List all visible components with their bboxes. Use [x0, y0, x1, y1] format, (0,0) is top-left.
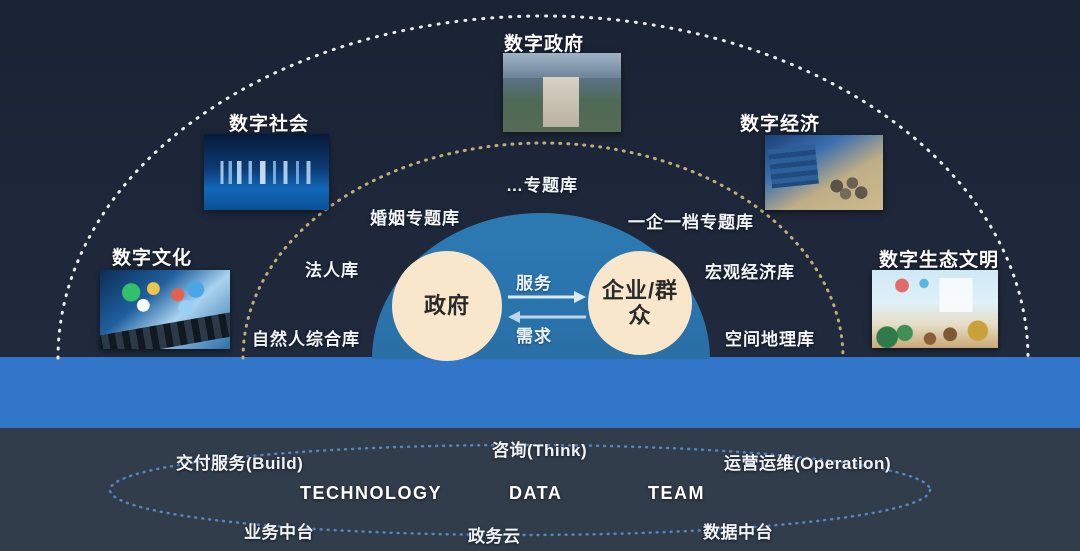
node-enterprise-public[interactable]: 企业/群众: [588, 251, 692, 355]
inner-label-more-topics: …专题库: [506, 171, 578, 196]
bottom-label-build: 交付服务(Build): [176, 449, 303, 474]
bottom-label-operation: 运营运维(Operation): [724, 449, 891, 474]
inner-label-spatial-geography: 空间地理库: [725, 325, 815, 350]
bottom-label-business-midend: 业务中台: [244, 518, 314, 543]
blue-divider-band: [0, 357, 1080, 428]
thumb-digital-society[interactable]: [204, 134, 329, 210]
inner-label-macro-economy: 宏观经济库: [705, 258, 795, 283]
digital-government-image: [503, 53, 621, 132]
node-government[interactable]: 政府: [392, 251, 502, 361]
outer-label-digital-government: 数字政府: [504, 29, 584, 56]
thumb-digital-government[interactable]: [503, 53, 621, 132]
arrow-service-right-icon: [508, 290, 586, 309]
thumb-digital-economy[interactable]: [765, 135, 883, 210]
inner-label-one-enterprise-file: 一企一档专题库: [628, 208, 754, 233]
bottom-label-gov-cloud: 政务云: [468, 522, 521, 547]
digital-eco-civilization-image: [872, 270, 998, 348]
slide-canvas: 政府 企业/群众 服务 需求 自然人综合库 法人库 婚姻专题库 …专题库 一企一…: [0, 0, 1080, 551]
arrow-demand-left-icon: [508, 310, 586, 329]
bottom-label-technology: TECHNOLOGY: [300, 483, 442, 504]
thumb-digital-culture[interactable]: [100, 270, 230, 349]
bottom-label-think: 咨询(Think): [492, 436, 587, 461]
digital-society-image: [204, 134, 329, 210]
thumb-digital-eco-civilization[interactable]: [872, 270, 998, 348]
digital-economy-image: [765, 135, 883, 210]
bottom-label-data-midend: 数据中台: [703, 518, 773, 543]
node-enterprise-public-label: 企业/群众: [594, 278, 686, 329]
outer-label-digital-eco-civilization: 数字生态文明: [879, 245, 999, 272]
inner-label-legal-person: 法人库: [305, 256, 359, 281]
inner-label-natural-person: 自然人综合库: [252, 325, 360, 350]
bottom-label-data: DATA: [509, 483, 562, 504]
outer-label-digital-economy: 数字经济: [740, 109, 820, 136]
outer-label-digital-society: 数字社会: [229, 109, 309, 136]
bottom-label-team: TEAM: [648, 483, 705, 504]
outer-label-digital-culture: 数字文化: [112, 243, 192, 270]
digital-culture-image: [100, 270, 230, 349]
node-government-label: 政府: [424, 293, 470, 318]
inner-label-marriage: 婚姻专题库: [370, 204, 460, 229]
